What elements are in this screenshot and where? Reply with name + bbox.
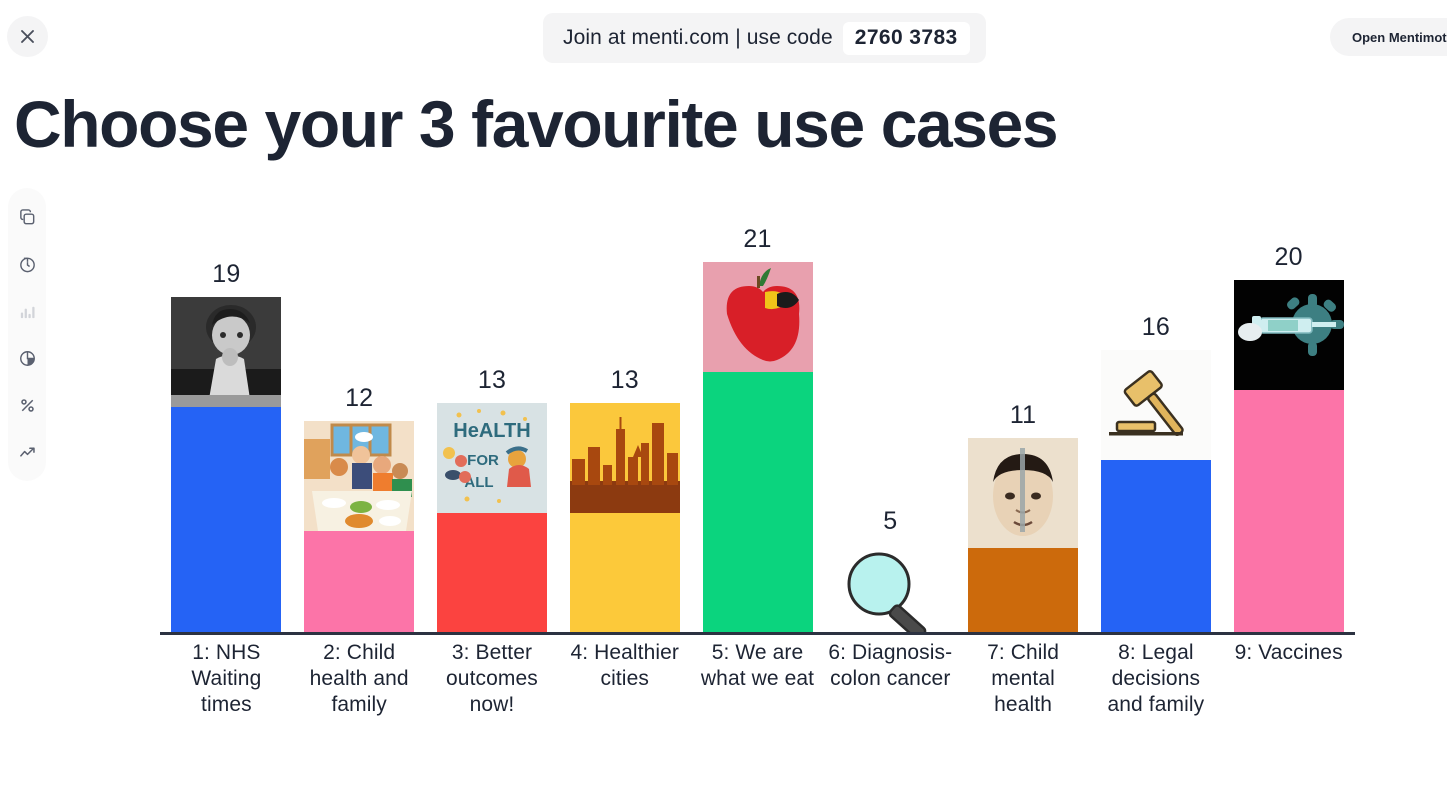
bar-value-label: 20 bbox=[1222, 243, 1355, 272]
page-title: Choose your 3 favourite use cases bbox=[14, 90, 1057, 159]
bar[interactable] bbox=[570, 403, 680, 632]
bar[interactable] bbox=[171, 297, 281, 632]
x-axis-labels: 1: NHS Waiting times2: Child health and … bbox=[160, 640, 1355, 718]
axis-label: 6: Diagnosis-colon cancer bbox=[824, 640, 957, 718]
syringe-virus-image bbox=[1234, 280, 1344, 390]
menti-code: 2760 3783 bbox=[843, 22, 970, 55]
close-button[interactable] bbox=[7, 16, 48, 57]
results-screen: Join at menti.com | use code 2760 3783 O… bbox=[0, 0, 1447, 798]
bar-column[interactable]: 11 bbox=[957, 200, 1090, 632]
bars-area: 19 12 bbox=[160, 200, 1355, 632]
axis-label: 9: Vaccines bbox=[1222, 640, 1355, 718]
trend-up-icon[interactable] bbox=[10, 433, 44, 471]
bar[interactable] bbox=[835, 544, 945, 632]
bar[interactable] bbox=[968, 438, 1078, 632]
duplicate-icon[interactable] bbox=[10, 198, 44, 236]
percent-icon[interactable] bbox=[10, 386, 44, 424]
axis-label: 3: Better outcomes now! bbox=[426, 640, 559, 718]
bar[interactable] bbox=[703, 262, 813, 632]
axis-label: 4: Healthier cities bbox=[558, 640, 691, 718]
svg-text:FOR: FOR bbox=[467, 452, 499, 469]
pie-chart-icon[interactable] bbox=[10, 339, 44, 377]
bar-column[interactable]: 20 bbox=[1222, 200, 1355, 632]
bar-column[interactable]: 19 bbox=[160, 200, 293, 632]
bar-column[interactable]: 13 HeALTH FOR ALL bbox=[426, 200, 559, 632]
split-face-portrait-image bbox=[968, 438, 1078, 548]
bar-column[interactable]: 5 bbox=[824, 200, 957, 632]
gavel-image bbox=[1101, 350, 1211, 460]
axis-label: 2: Child health and family bbox=[293, 640, 426, 718]
bar-value-label: 13 bbox=[558, 366, 691, 395]
poll-results-chart: 19 12 bbox=[160, 200, 1355, 760]
health-for-all-poster-image: HeALTH FOR ALL bbox=[437, 403, 547, 513]
bar[interactable] bbox=[1234, 280, 1344, 632]
join-code-banner: Join at menti.com | use code 2760 3783 bbox=[543, 13, 986, 63]
axis-label: 1: NHS Waiting times bbox=[160, 640, 293, 718]
axis-label: 5: We are what we eat bbox=[691, 640, 824, 718]
svg-text:HeALTH: HeALTH bbox=[453, 420, 530, 442]
apple-bite-image bbox=[703, 262, 813, 372]
bar[interactable] bbox=[1101, 350, 1211, 632]
bar-value-label: 11 bbox=[957, 401, 1090, 430]
bar[interactable] bbox=[304, 421, 414, 632]
axis-label: 8: Legal decisions and family bbox=[1089, 640, 1222, 718]
boy-photo-image bbox=[171, 297, 281, 407]
magnifying-glass-image bbox=[835, 544, 945, 632]
close-icon bbox=[20, 29, 35, 44]
join-instruction-text: Join at menti.com | use code bbox=[563, 26, 833, 50]
chart-tools-sidebar bbox=[8, 188, 46, 481]
bar-value-label: 16 bbox=[1089, 313, 1222, 342]
bar-value-label: 5 bbox=[824, 507, 957, 536]
bar-value-label: 12 bbox=[293, 384, 426, 413]
reset-history-icon[interactable] bbox=[10, 245, 44, 283]
bar-column[interactable]: 13 bbox=[558, 200, 691, 632]
open-mentimote-button[interactable]: Open Mentimot bbox=[1330, 18, 1447, 56]
family-meal-illustration-image bbox=[304, 421, 414, 531]
bar-column[interactable]: 16 bbox=[1089, 200, 1222, 632]
bar-value-label: 19 bbox=[160, 260, 293, 289]
bar-chart-icon[interactable] bbox=[10, 292, 44, 330]
bar[interactable]: HeALTH FOR ALL bbox=[437, 403, 547, 632]
bar-column[interactable]: 12 bbox=[293, 200, 426, 632]
city-skyline-image bbox=[570, 403, 680, 513]
bar-value-label: 21 bbox=[691, 225, 824, 254]
axis-label: 7: Child mental health bbox=[957, 640, 1090, 718]
x-axis-line bbox=[160, 632, 1355, 635]
bar-column[interactable]: 21 bbox=[691, 200, 824, 632]
bar-value-label: 13 bbox=[426, 366, 559, 395]
